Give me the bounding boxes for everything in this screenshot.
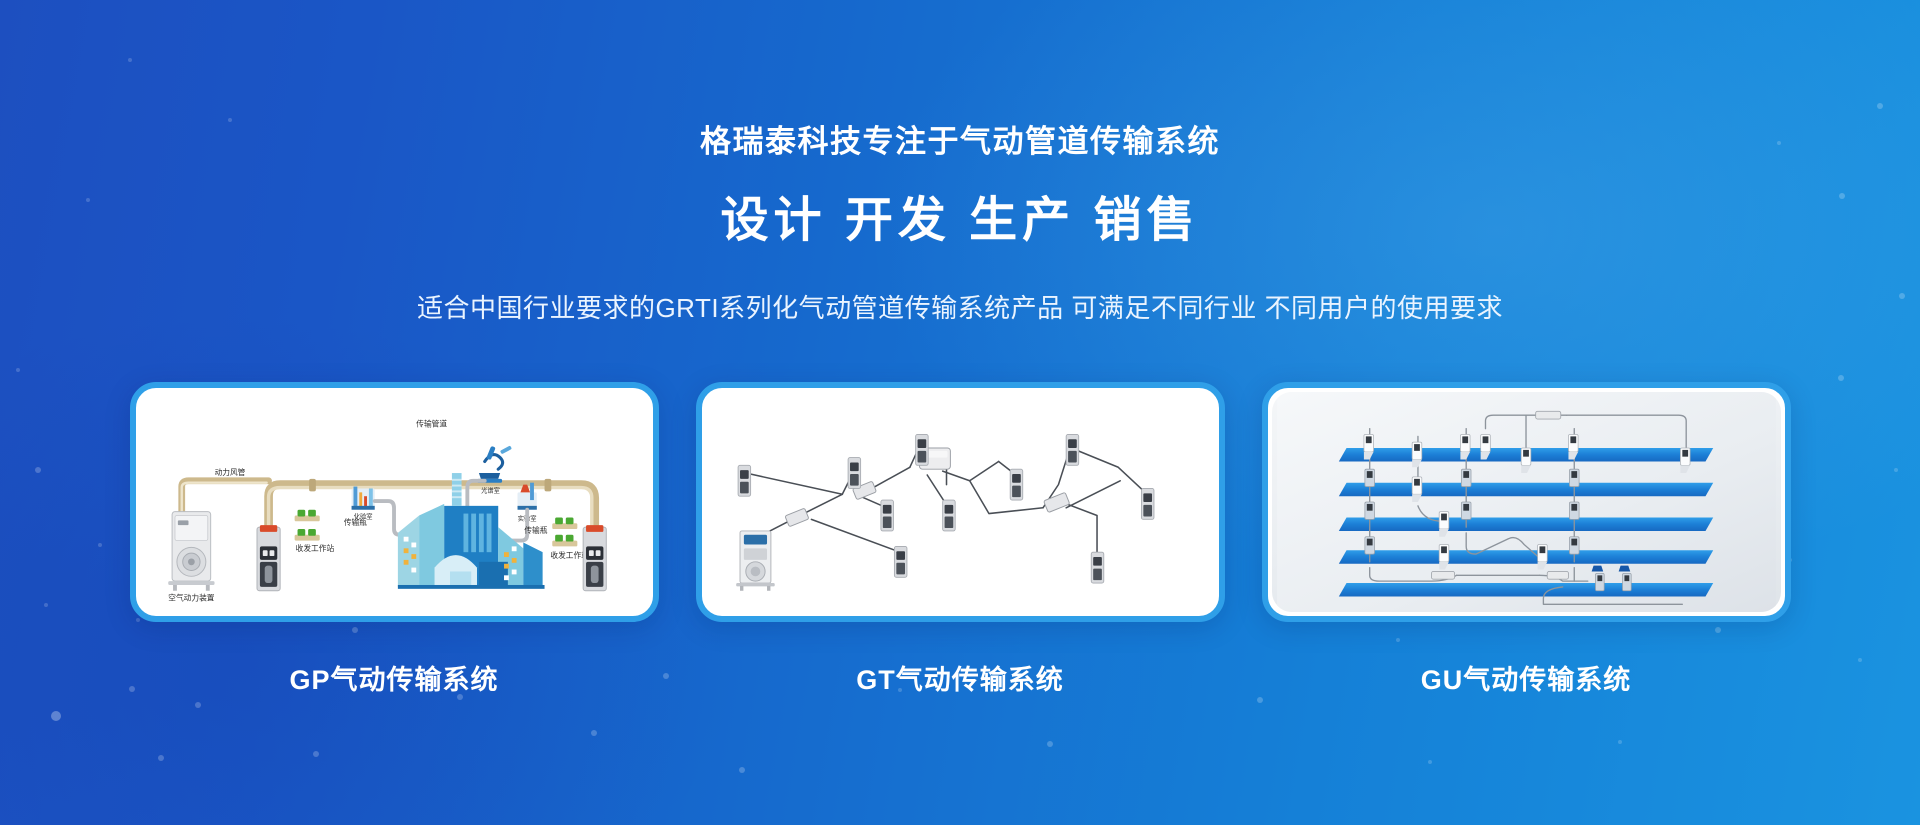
card-frame-gt (696, 382, 1225, 622)
product-card-caption-gp: GP气动传输系统 (289, 658, 498, 697)
svg-text:传输管道: 传输管道 (416, 419, 447, 429)
svg-text:化验室: 化验室 (353, 511, 372, 520)
card-image-gp: 传输管道 动力风管 (140, 392, 649, 612)
product-card-gp[interactable]: 传输管道 动力风管 (130, 382, 659, 702)
svg-text:空气动力装置: 空气动力装置 (168, 592, 215, 602)
svg-text:收发工作站: 收发工作站 (295, 543, 334, 553)
product-card-caption-gt: GT气动传输系统 (856, 658, 1064, 697)
product-card-caption-gu: GU气动传输系统 (1421, 658, 1632, 697)
gt-diagram (706, 392, 1215, 612)
gp-diagram: 传输管道 动力风管 (140, 392, 649, 612)
svg-text:传输瓶: 传输瓶 (524, 525, 547, 535)
svg-text:光谱室: 光谱室 (481, 485, 500, 494)
hero-content: 格瑞泰科技专注于气动管道传输系统 设计 开发 生产 销售 适合中国行业要求的GR… (0, 0, 1920, 825)
hero-headline-secondary: 设计 开发 生产 销售 (0, 180, 1920, 250)
hero-headline-primary: 格瑞泰科技专注于气动管道传输系统 (0, 116, 1920, 161)
product-card-list: 传输管道 动力风管 (0, 382, 1920, 702)
card-frame-gu (1262, 382, 1791, 622)
product-card-gt[interactable]: GT气动传输系统 (696, 382, 1225, 702)
card-image-gt (706, 392, 1215, 612)
hero-subheadline: 适合中国行业要求的GRTI系列化气动管道传输系统产品 可满足不同行业 不同用户的… (0, 288, 1920, 325)
hero-banner: 格瑞泰科技专注于气动管道传输系统 设计 开发 生产 销售 适合中国行业要求的GR… (0, 0, 1920, 825)
card-image-gu (1272, 392, 1781, 612)
svg-text:动力风管: 动力风管 (214, 467, 245, 477)
card-frame-gp: 传输管道 动力风管 (130, 382, 659, 622)
gu-diagram (1272, 392, 1781, 612)
product-card-gu[interactable]: GU气动传输系统 (1262, 382, 1791, 702)
